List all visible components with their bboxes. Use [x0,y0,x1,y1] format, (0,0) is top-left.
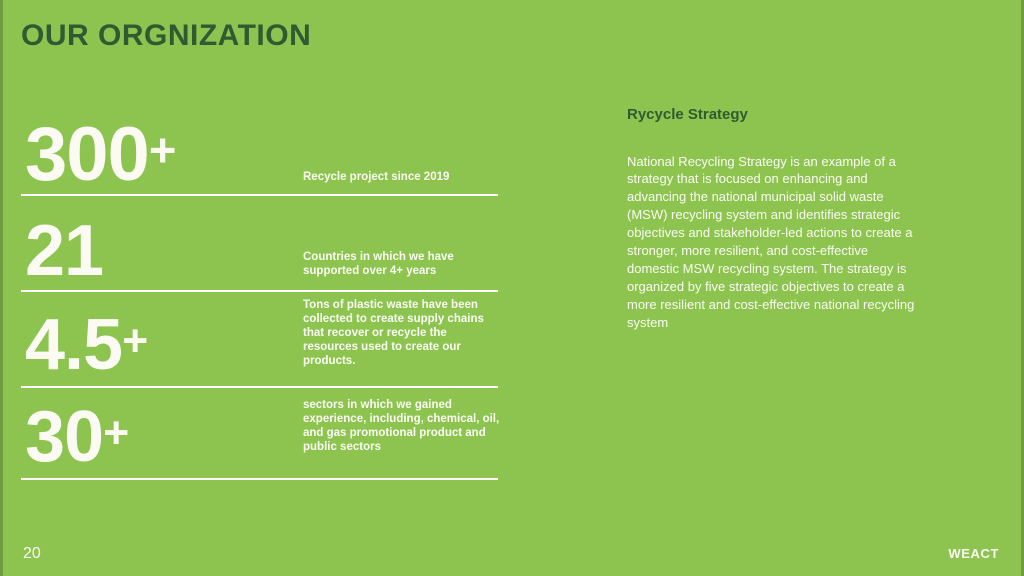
stat-row: 30+ sectors in which we gained experienc… [21,388,498,480]
stat-value: 4.5+ [25,312,148,378]
stat-value-number: 4.5 [25,305,122,385]
brand-logo-text: WEACT [948,547,999,560]
stat-value-plus: + [149,123,177,176]
stat-value-plus: + [122,316,148,365]
stat-value-number: 300 [25,112,149,197]
stat-value-number: 21 [25,211,103,291]
strategy-body-text: National Recycling Strategy is an exampl… [627,153,919,332]
stat-label: Recycle project since 2019 [303,170,503,184]
page-number: 20 [23,546,41,562]
page-title: OUR ORGNIZATION [21,18,311,54]
strategy-section: Rycycle Strategy National Recycling Stra… [627,105,919,332]
stat-label: Countries in which we have supported ove… [303,250,503,278]
stat-label: sectors in which we gained experience, i… [303,398,503,454]
slide-canvas: OUR ORGNIZATION 300+ Recycle project sin… [0,0,1024,576]
stat-value: 21 [25,218,103,284]
stat-value-plus: + [103,408,129,457]
strategy-heading: Rycycle Strategy [627,105,919,125]
stats-list: 300+ Recycle project since 2019 21 Count… [21,112,498,480]
stat-value: 30+ [25,404,129,470]
stat-value: 300+ [25,120,176,190]
stat-value-number: 30 [25,397,103,477]
stat-row: 21 Countries in which we have supported … [21,196,498,292]
stat-label: Tons of plastic waste have been collecte… [303,298,503,368]
stat-row: 300+ Recycle project since 2019 [21,112,498,196]
stat-row: 4.5+ Tons of plastic waste have been col… [21,292,498,388]
